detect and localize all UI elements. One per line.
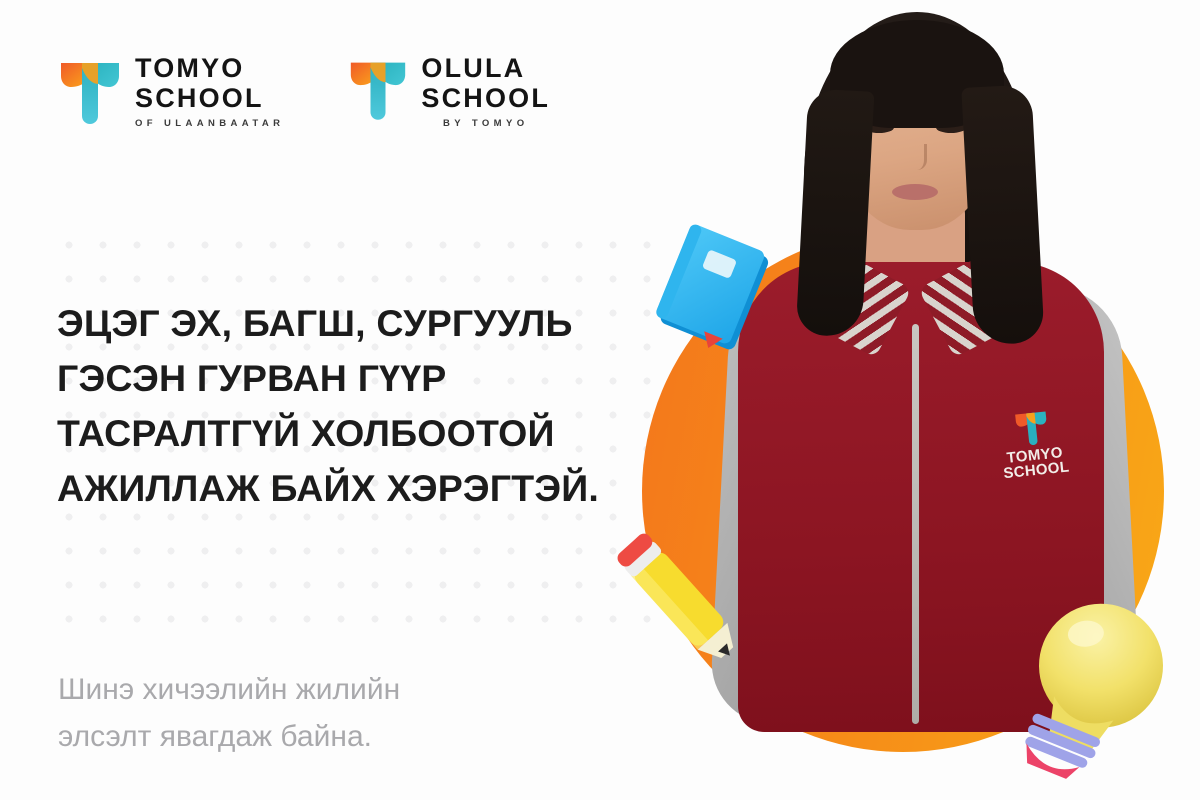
portrait-nose: [906, 144, 927, 170]
logo-olula-line1: OLULA: [421, 54, 550, 83]
olula-t-mark-icon: [348, 50, 408, 122]
lightbulb-icon: [1000, 590, 1175, 785]
logo-tomyo-line1: TOMYO: [135, 54, 284, 83]
portrait-hair-right: [961, 84, 1044, 345]
poster-canvas: TOMYO SCHOOL OF ULAANBAATAR OLULA SCHOOL…: [0, 0, 1200, 800]
portrait-mouth: [892, 184, 938, 200]
hero-composition: TOMYO SCHOOL: [600, 0, 1200, 800]
pencil-icon: [608, 530, 758, 680]
subtitle-text: Шинэ хичээлийн жилийн элсэлт явагдаж бай…: [58, 666, 578, 760]
logo-tomyo-words: TOMYO SCHOOL OF ULAANBAATAR: [135, 50, 284, 129]
logo-tomyo-tagline: OF ULAANBAATAR: [135, 118, 284, 129]
logo-tomyo-line2: SCHOOL: [135, 84, 284, 113]
headline-text: ЭЦЭГ ЭХ, БАГШ, СУРГУУЛЬ ГЭСЭН ГУРВАН ГҮҮ…: [57, 296, 667, 516]
logo-olula-school[interactable]: OLULA SCHOOL BY TOMYO: [348, 50, 550, 129]
logo-olula-words: OLULA SCHOOL BY TOMYO: [421, 50, 550, 129]
logo-tomyo-school[interactable]: TOMYO SCHOOL OF ULAANBAATAR: [58, 50, 284, 129]
logo-olula-line2: SCHOOL: [421, 84, 550, 113]
logo-row: TOMYO SCHOOL OF ULAANBAATAR OLULA SCHOOL…: [58, 50, 550, 129]
tomyo-t-mark-icon: [58, 50, 122, 126]
jacket-t-mark-icon: [1010, 404, 1054, 448]
logo-olula-tagline: BY TOMYO: [421, 118, 550, 129]
portrait-hair-left: [796, 88, 875, 337]
portrait-zipper: [912, 324, 919, 724]
jacket-chest-badge: TOMYO SCHOOL: [982, 401, 1086, 495]
